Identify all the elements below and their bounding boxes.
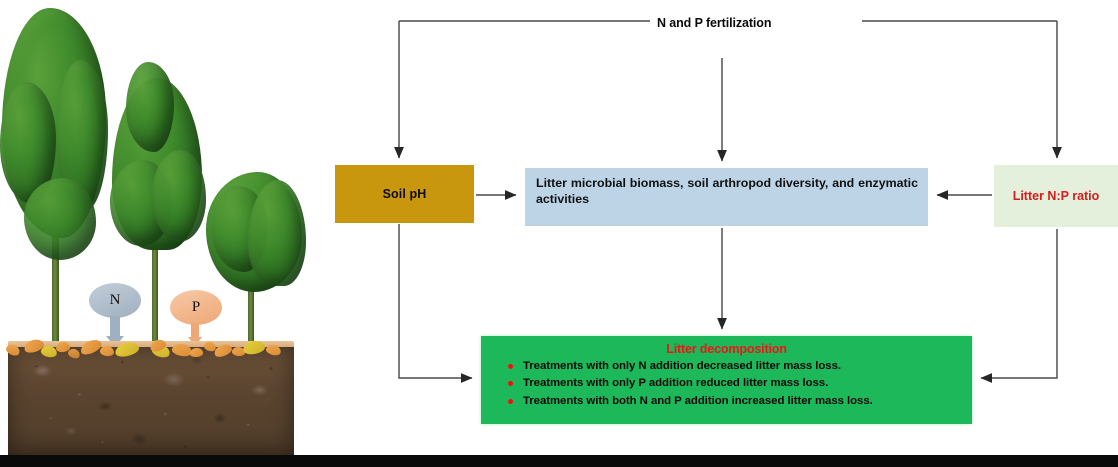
decomposition-findings-list: Treatments with only N addition decrease… <box>489 358 964 410</box>
list-item: Treatments with only N addition decrease… <box>489 358 964 375</box>
node-litter-decomposition-title: Litter decomposition <box>489 342 964 356</box>
node-litter-microbial-biomass-label: Litter microbial biomass, soil arthropod… <box>536 175 918 207</box>
nitrogen-label: N <box>89 283 141 318</box>
list-item: Treatments with both N and P addition in… <box>489 393 964 410</box>
forest-soil-litter-illustration: N P <box>0 0 330 455</box>
diagram-header: N and P fertilization <box>330 0 1118 40</box>
node-litter-np-ratio[interactable]: Litter N:P ratio <box>994 165 1118 227</box>
node-litter-microbial-biomass[interactable]: Litter microbial biomass, soil arthropod… <box>525 168 928 226</box>
figure-canvas: N P <box>0 0 1118 467</box>
list-item: Treatments with only P addition reduced … <box>489 375 964 392</box>
node-soil-ph[interactable]: Soil pH <box>335 165 474 223</box>
node-litter-decomposition[interactable]: Litter decomposition Treatments with onl… <box>481 336 972 424</box>
soil-profile <box>8 347 294 455</box>
footer-bar <box>0 455 1118 467</box>
node-litter-np-ratio-label: Litter N:P ratio <box>1013 189 1100 203</box>
flow-diagram: N and P fertilization Soil pH Litter mic… <box>330 0 1118 455</box>
n-and-p-fertilization-label: N and P fertilization <box>657 16 771 30</box>
node-soil-ph-label: Soil pH <box>383 187 427 201</box>
phosphorus-label: P <box>170 290 222 325</box>
